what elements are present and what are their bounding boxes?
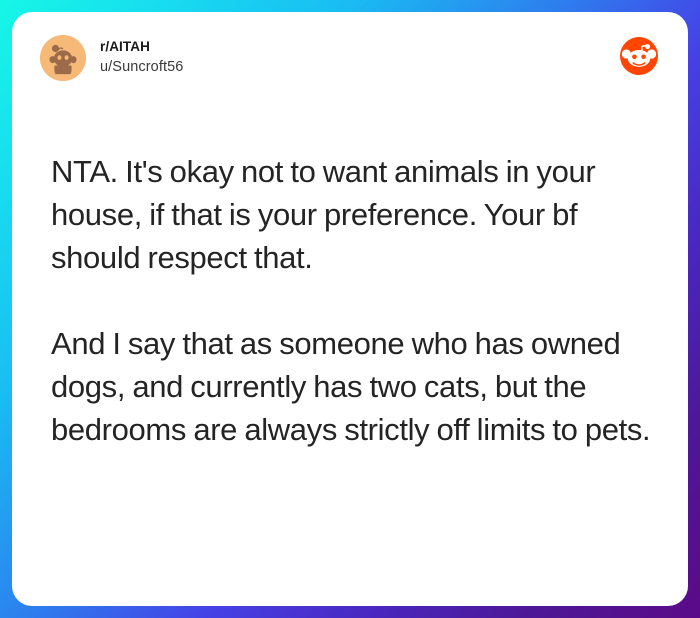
post-body: NTA. It's okay not to want animals in yo…: [40, 150, 660, 451]
post-header: r/AITAH u/Suncroft56: [40, 34, 660, 90]
post-paragraph: And I say that as someone who has owned …: [51, 322, 654, 451]
username[interactable]: u/Suncroft56: [100, 57, 183, 78]
reddit-post-card: r/AITAH u/Suncroft56: [12, 12, 688, 606]
reddit-snoo-avatar-icon: [40, 35, 86, 81]
poster-meta: r/AITAH u/Suncroft56: [100, 34, 183, 78]
post-paragraph: NTA. It's okay not to want animals in yo…: [51, 150, 654, 279]
screenshot-root: r/AITAH u/Suncroft56: [0, 0, 700, 618]
reddit-logo-icon: [620, 37, 658, 75]
subreddit-name[interactable]: r/AITAH: [100, 37, 183, 57]
